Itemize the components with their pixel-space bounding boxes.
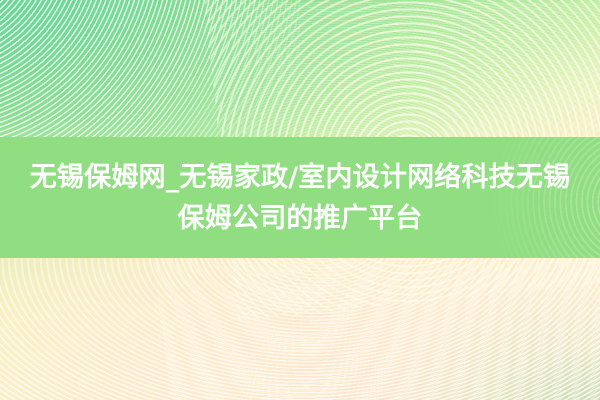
- title-band: 无锡保姆网_无锡家政/室内设计网络科技无锡保姆公司的推广平台: [0, 137, 600, 258]
- guilloche-wash-upper-icon: [170, 2, 600, 142]
- promo-banner: 无锡保姆网_无锡家政/室内设计网络科技无锡保姆公司的推广平台: [0, 0, 600, 400]
- banner-title: 无锡保姆网_无锡家政/室内设计网络科技无锡保姆公司的推广平台: [0, 157, 600, 239]
